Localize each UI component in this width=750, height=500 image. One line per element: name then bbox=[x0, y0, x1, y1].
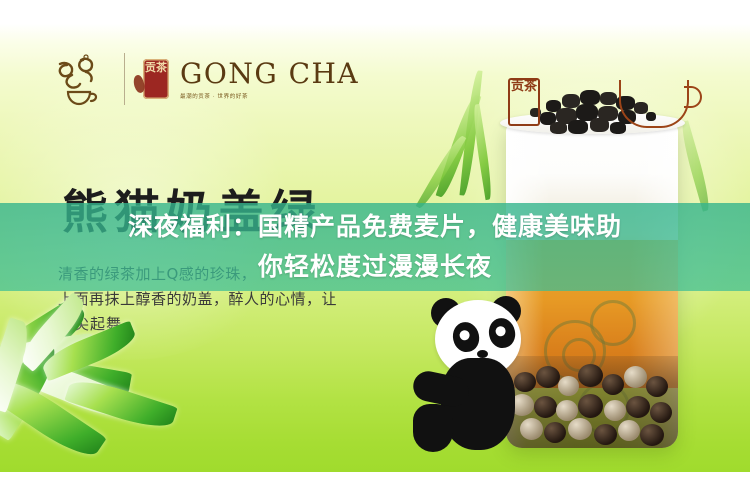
boba-pearl-layer bbox=[506, 356, 678, 448]
brand-divider bbox=[124, 53, 125, 105]
brand-wordmark: GONG CHA 最潮的贡茶 · 世界的好茶 bbox=[180, 59, 359, 100]
cup-seal-icon: 贡茶 bbox=[508, 78, 540, 126]
cup-seal-text: 贡茶 bbox=[508, 80, 540, 94]
brand-tagline: 最潮的贡茶 · 世界的好茶 bbox=[180, 92, 359, 100]
tea-leaves-cluster bbox=[0, 318, 270, 472]
tea-swirl-icon bbox=[50, 48, 110, 110]
panda-leg bbox=[413, 404, 453, 452]
seal-text: 贡茶 bbox=[143, 62, 169, 73]
caption-line-2: 你轻松度过漫漫长夜 bbox=[258, 247, 492, 287]
overlay-caption-band: 深夜福利：国精产品免费麦片，健康美味助 你轻松度过漫漫长夜 bbox=[0, 203, 750, 291]
teacup-outline-icon bbox=[619, 80, 689, 128]
gongcha-seal-icon: 贡茶 bbox=[143, 59, 169, 99]
bamboo-blade bbox=[471, 104, 495, 200]
panda-nose bbox=[477, 350, 488, 358]
screenshot-root: 贡茶 GONG CHA 最潮的贡茶 · 世界的好茶 bbox=[0, 0, 750, 500]
brand-lockup: 贡茶 GONG CHA 最潮的贡茶 · 世界的好茶 bbox=[50, 48, 359, 110]
seal-leaf-icon bbox=[131, 74, 146, 94]
caption-line-1: 深夜福利：国精产品免费麦片，健康美味助 bbox=[128, 207, 622, 247]
bamboo-blade bbox=[416, 133, 467, 211]
brand-name: GONG CHA bbox=[180, 59, 359, 89]
